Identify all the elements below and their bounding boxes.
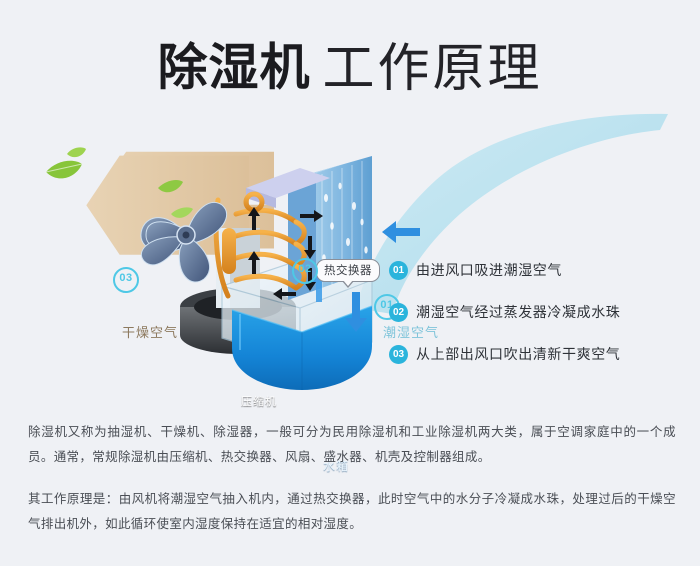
page-title-light: 工作原理 (322, 40, 542, 98)
description-paragraph-2-wrap: 其工作原理是：由风机将潮湿空气抽入机内，通过热交换器，此时空气中的水分子冷凝成水… (28, 487, 676, 537)
legend-badge-01: 01 (389, 261, 408, 280)
list-item: 01 由进风口吸进潮湿空气 (389, 254, 689, 286)
description-paragraph-1-wrap: 除湿机又称为抽湿机、干燥机、除湿器，一般可分为民用除湿机和工业除湿机两大类，属于… (28, 420, 676, 470)
legend-text-03: 从上部出风口吹出清新干爽空气 (416, 344, 620, 364)
accumulator-cylinder (222, 228, 236, 274)
legend-badge-03: 03 (389, 345, 408, 364)
legend-list: 01 由进风口吸进潮湿空气 02 潮湿空气经过蒸发器冷凝成水珠 03 从上部出风… (389, 254, 689, 380)
description-paragraph-2: 其工作原理是：由风机将潮湿空气抽入机内，通过热交换器，此时空气中的水分子冷凝成水… (28, 487, 676, 537)
callout-heat-exchanger: 热交换器 (316, 259, 380, 282)
description-paragraph-1: 除湿机又称为抽湿机、干燥机、除湿器，一般可分为民用除湿机和工业除湿机两大类，属于… (28, 420, 676, 470)
page-title: 除湿机工作原理 (0, 26, 700, 101)
diagram-badge-02: 02 (292, 258, 318, 284)
legend-text-01: 由进风口吸进潮湿空气 (416, 260, 562, 280)
legend-badge-02: 02 (389, 303, 408, 322)
diagram-badge-03: 03 (113, 267, 139, 293)
page-title-bold: 除湿机 (157, 40, 310, 96)
list-item: 03 从上部出风口吹出清新干爽空气 (389, 338, 689, 370)
legend-text-02: 潮湿空气经过蒸发器冷凝成水珠 (416, 302, 620, 322)
list-item: 02 潮湿空气经过蒸发器冷凝成水珠 (389, 296, 689, 328)
